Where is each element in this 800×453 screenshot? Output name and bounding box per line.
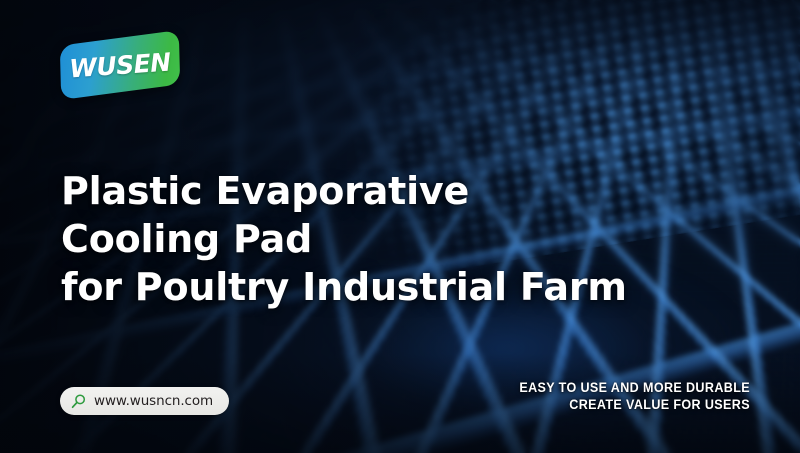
banner-content: WUSEN Plastic Evaporative Cooling Pad fo… (0, 0, 800, 453)
tagline-line-2: CREATE VALUE FOR USERS (519, 397, 750, 414)
brand-logo[interactable]: WUSEN (60, 38, 180, 92)
headline-line-1: Plastic Evaporative (61, 167, 627, 215)
headline-line-2: Cooling Pad (61, 215, 627, 263)
website-url-text: www.wusncn.com (94, 393, 213, 409)
tagline: EASY TO USE AND MORE DURABLE CREATE VALU… (519, 380, 750, 413)
website-url-pill[interactable]: www.wusncn.com (60, 387, 229, 415)
page-title: Plastic Evaporative Cooling Pad for Poul… (61, 167, 627, 311)
headline-line-3: for Poultry Industrial Farm (61, 263, 627, 311)
logo-wordmark: WUSEN (58, 34, 181, 96)
promo-banner: WUSEN Plastic Evaporative Cooling Pad fo… (0, 0, 800, 453)
search-icon (70, 393, 87, 410)
tagline-line-1: EASY TO USE AND MORE DURABLE (519, 380, 750, 397)
